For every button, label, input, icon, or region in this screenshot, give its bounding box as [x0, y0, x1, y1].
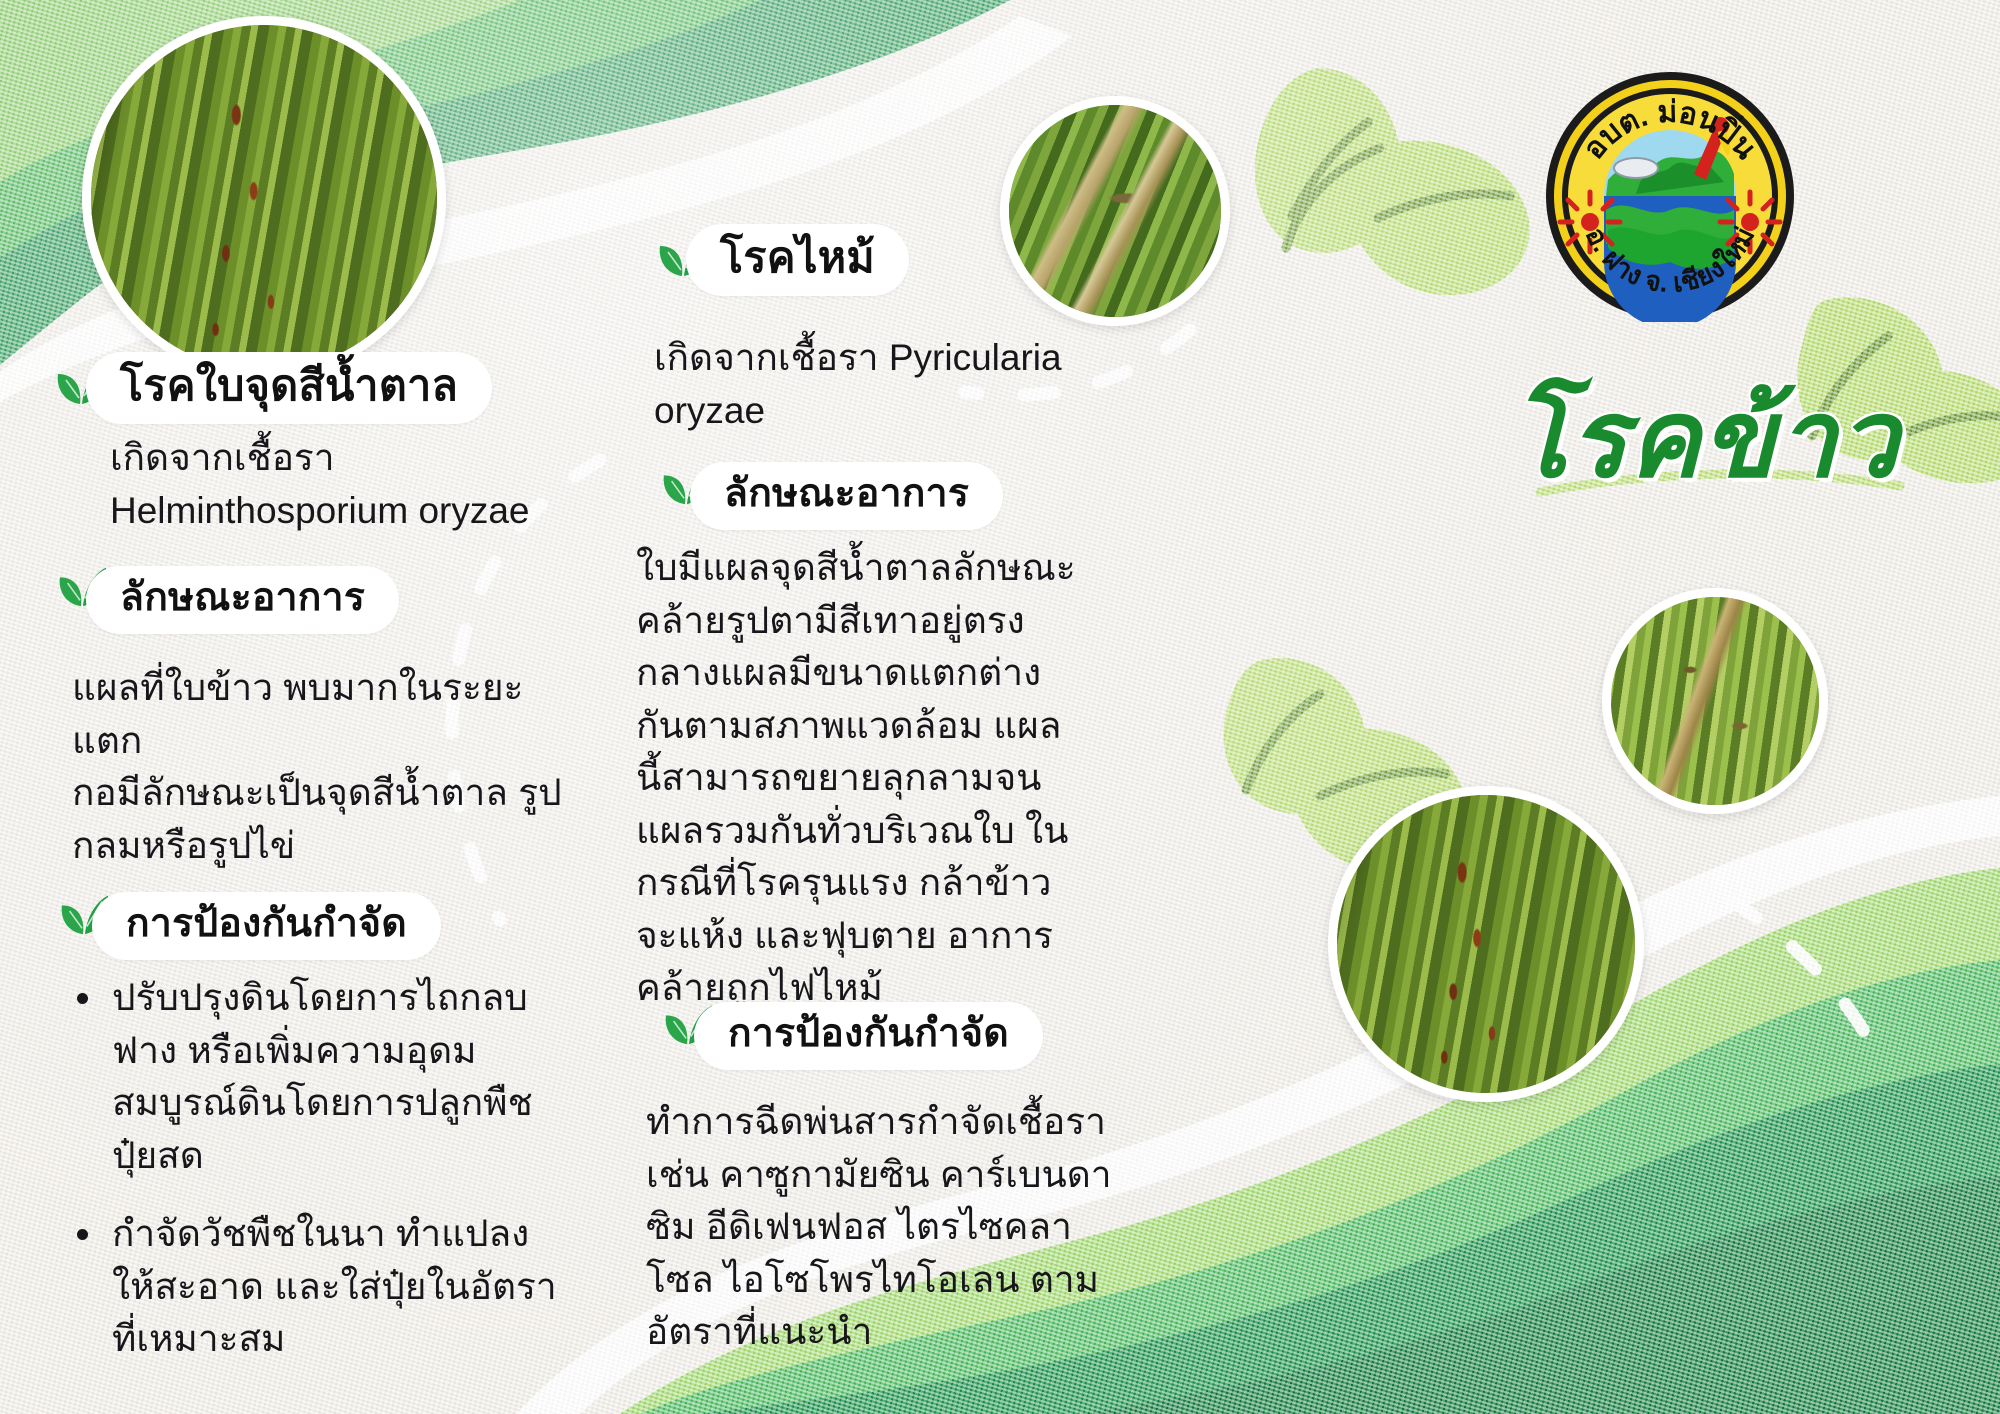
list-item: กำจัดวัชพืชในนา ทำแปลงให้สะอาด และใส่ปุ๋…: [106, 1208, 566, 1366]
left-disease-name: โรคใบจุดสีน้ำตาล: [120, 362, 458, 410]
middle-disease-name: โรคไหม้: [720, 234, 875, 282]
poster-canvas: อบต. ม่อนปิ่น อ. ฝาง จ. เชียงใหม่ โรคข้า…: [0, 0, 2000, 1414]
brown-spot-leaf-photo-bottom-right: [1328, 786, 1644, 1102]
left-symptoms-heading: ลักษณะอาการ: [120, 576, 365, 620]
middle-cause-text: เกิดจากเชื้อรา Pyricularia oryzae: [654, 332, 1124, 437]
left-cause-text: เกิดจากเชื้อรา Helminthosporium oryzae: [110, 432, 580, 537]
left-prevention-heading-pill: การป้องกันกำจัด: [92, 892, 441, 960]
left-disease-name-pill: โรคใบจุดสีน้ำตาล: [86, 352, 492, 424]
left-symptoms-text: แผลที่ใบข้าว พบมากในระยะแตก กอมีลักษณะเป…: [72, 662, 592, 872]
page-title: โรคข้าว: [1510, 352, 1899, 524]
left-symptoms-heading-pill: ลักษณะอาการ: [86, 566, 399, 634]
middle-symptoms-heading-pill: ลักษณะอาการ: [690, 462, 1003, 530]
middle-disease-name-pill: โรคไหม้: [686, 224, 909, 296]
left-prevention-bullets: ปรับปรุงดินโดยการไถกลบฟาง หรือเพิ่มความอ…: [66, 972, 566, 1392]
middle-prevention-heading-pill: การป้องกันกำจัด: [694, 1002, 1043, 1070]
brown-spot-leaf-photo-large: [82, 16, 446, 380]
rice-blast-leaf-photo-right: [1602, 588, 1828, 814]
list-item: ปรับปรุงดินโดยการไถกลบฟาง หรือเพิ่มความอ…: [106, 972, 566, 1182]
middle-prevention-heading: การป้องกันกำจัด: [728, 1012, 1009, 1056]
middle-prevention-text: ทำการฉีดพ่นสารกำจัดเชื้อรา เช่น คาซูกามั…: [646, 1096, 1146, 1359]
middle-symptoms-heading: ลักษณะอาการ: [724, 472, 969, 516]
leaf-decoration-icon-top: [1255, 68, 1530, 295]
rice-blast-leaf-photo-top: [1000, 96, 1230, 326]
middle-symptoms-text: ใบมีแผลจุดสีน้ำตาลลักษณะ คล้ายรูปตามีสีเ…: [636, 542, 1136, 1015]
left-prevention-heading: การป้องกันกำจัด: [126, 902, 407, 946]
municipal-seal-logo: อบต. ม่อนปิ่น อ. ฝาง จ. เชียงใหม่: [1544, 70, 1796, 322]
